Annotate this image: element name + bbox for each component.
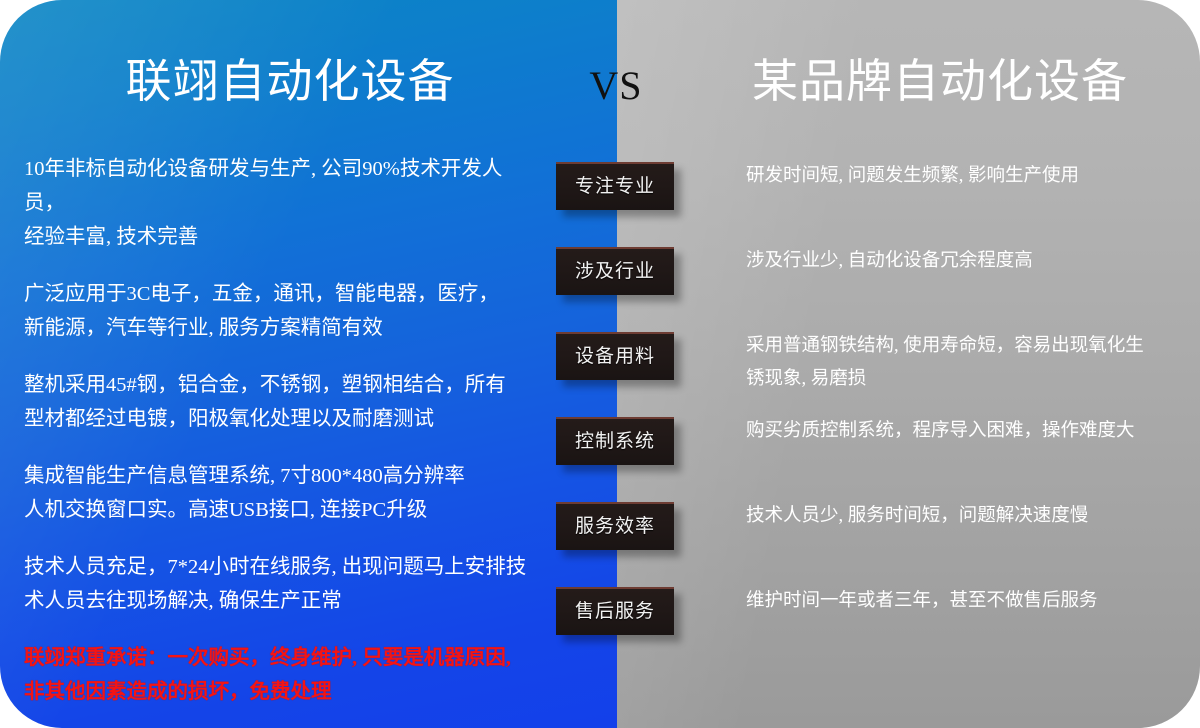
right-feature-line: 购买劣质控制系统，程序导入困难，操作难度大 (746, 415, 1186, 448)
vs-label: VS (556, 60, 676, 112)
left-feature-line: 新能源，汽车等行业, 服务方案精简有效 (24, 311, 536, 345)
left-feature-item: 集成智能生产信息管理系统, 7寸800*480高分辨率 人机交换窗口实。高速US… (24, 459, 536, 527)
right-feature-item: 购买劣质控制系统，程序导入困难，操作难度大 (746, 415, 1186, 500)
left-feature-line: 型材都经过电镀，阳极氧化处理以及耐磨测试 (24, 402, 536, 436)
category-badge-industries[interactable]: 涉及行业 (556, 247, 674, 295)
right-feature-line: 锈现象, 易磨损 (746, 363, 1186, 396)
category-badge-materials[interactable]: 设备用料 (556, 332, 674, 380)
right-feature-line: 涉及行业少, 自动化设备冗余程度高 (746, 245, 1186, 278)
right-feature-item: 采用普通钢铁结构, 使用寿命短，容易出现氧化生 锈现象, 易磨损 (746, 330, 1186, 415)
category-badge-label: 专注专业 (575, 176, 655, 198)
left-warranty-line: 联翊郑重承诺：一次购买，终身维护, 只要是机器原因, (24, 641, 536, 675)
left-feature-item: 10年非标自动化设备研发与生产, 公司90%技术开发人员， 经验丰富, 技术完善 (24, 152, 536, 254)
left-feature-item: 整机采用45#钢，铝合金，不锈钢，塑钢相结合，所有 型材都经过电镀，阳极氧化处理… (24, 368, 536, 436)
left-feature-line: 术人员去往现场解决, 确保生产正常 (24, 584, 536, 618)
right-feature-line: 采用普通钢铁结构, 使用寿命短，容易出现氧化生 (746, 330, 1186, 363)
left-feature-line: 人机交换窗口实。高速USB接口, 连接PC升级 (24, 493, 536, 527)
right-feature-line: 技术人员少, 服务时间短，问题解决速度慢 (746, 500, 1186, 533)
category-badge-label: 控制系统 (575, 431, 655, 453)
left-feature-item: 广泛应用于3C电子，五金，通讯，智能电器，医疗， 新能源，汽车等行业, 服务方案… (24, 277, 536, 345)
right-feature-line: 维护时间一年或者三年，甚至不做售后服务 (746, 585, 1186, 618)
right-feature-item: 研发时间短, 问题发生频繁, 影响生产使用 (746, 160, 1186, 245)
left-feature-item: 技术人员充足，7*24小时在线服务, 出现问题马上安排技 术人员去往现场解决, … (24, 550, 536, 618)
left-brand-heading: 联翊自动化设备 (0, 54, 580, 110)
category-badge-label: 设备用料 (575, 346, 655, 368)
comparison-infographic: 联翊自动化设备 VS 某品牌自动化设备 10年非标自动化设备研发与生产, 公司9… (0, 0, 1200, 728)
category-badge-list: 专注专业 涉及行业 设备用料 控制系统 服务效率 售后服务 (556, 162, 686, 635)
right-feature-item: 维护时间一年或者三年，甚至不做售后服务 (746, 585, 1186, 670)
left-feature-line: 广泛应用于3C电子，五金，通讯，智能电器，医疗， (24, 277, 536, 311)
category-badge-label: 涉及行业 (575, 261, 655, 283)
category-badge-after-sales[interactable]: 售后服务 (556, 587, 674, 635)
category-badge-focus[interactable]: 专注专业 (556, 162, 674, 210)
left-feature-line: 经验丰富, 技术完善 (24, 220, 536, 254)
category-badge-service-efficiency[interactable]: 服务效率 (556, 502, 674, 550)
left-warranty-promise: 联翊郑重承诺：一次购买，终身维护, 只要是机器原因, 非其他因素造成的损坏，免费… (24, 641, 536, 709)
right-feature-list: 研发时间短, 问题发生频繁, 影响生产使用 涉及行业少, 自动化设备冗余程度高 … (746, 160, 1186, 670)
category-badge-control-system[interactable]: 控制系统 (556, 417, 674, 465)
left-feature-line: 技术人员充足，7*24小时在线服务, 出现问题马上安排技 (24, 550, 536, 584)
category-badge-label: 售后服务 (575, 601, 655, 623)
left-feature-line: 整机采用45#钢，铝合金，不锈钢，塑钢相结合，所有 (24, 368, 536, 402)
left-warranty-line: 非其他因素造成的损坏，免费处理 (24, 675, 536, 709)
right-feature-item: 技术人员少, 服务时间短，问题解决速度慢 (746, 500, 1186, 585)
left-feature-line: 10年非标自动化设备研发与生产, 公司90%技术开发人员， (24, 152, 536, 220)
left-feature-list: 10年非标自动化设备研发与生产, 公司90%技术开发人员， 经验丰富, 技术完善… (24, 152, 536, 709)
right-feature-item: 涉及行业少, 自动化设备冗余程度高 (746, 245, 1186, 330)
left-feature-line: 集成智能生产信息管理系统, 7寸800*480高分辨率 (24, 459, 536, 493)
right-feature-line: 研发时间短, 问题发生频繁, 影响生产使用 (746, 160, 1186, 193)
category-badge-label: 服务效率 (575, 516, 655, 538)
right-brand-heading: 某品牌自动化设备 (690, 54, 1190, 110)
